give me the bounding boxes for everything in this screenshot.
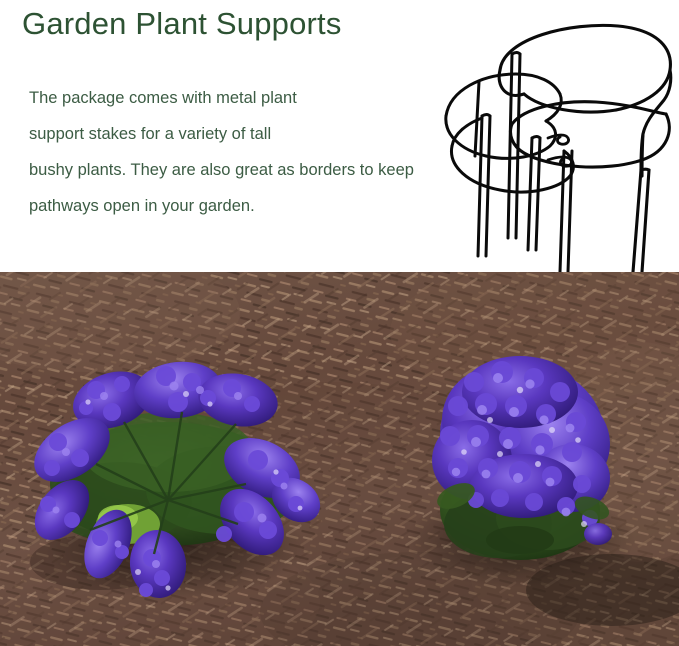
top-text-panel: Garden Plant Supports The package comes … bbox=[0, 0, 679, 272]
product-info-panel: Garden Plant Supports The package comes … bbox=[0, 0, 679, 646]
page-title: Garden Plant Supports bbox=[22, 2, 342, 46]
plant-support-illustration bbox=[420, 8, 679, 272]
before-after-photo bbox=[0, 272, 679, 646]
